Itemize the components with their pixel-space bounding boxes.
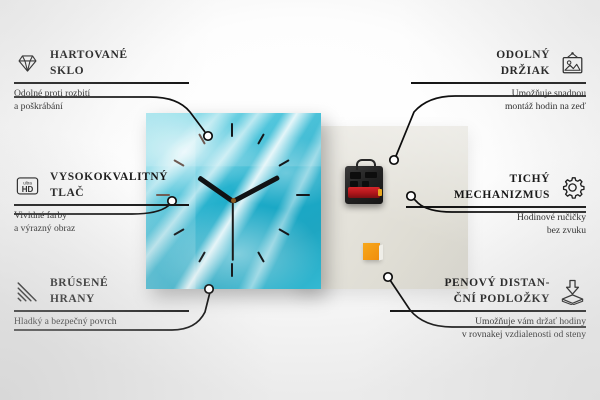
picture-hanger-icon — [559, 50, 586, 77]
callout-rule — [14, 82, 189, 84]
callout-rule — [390, 310, 586, 312]
callout-header: PENOVÝ DISTAN- ČNÍ PODLOŽKY — [376, 276, 586, 307]
callout-header: HARTOVANÉ SKLO — [14, 48, 204, 79]
clock-movement — [345, 166, 383, 204]
callout-header: ODOLNÝ DRŽIAK — [396, 48, 586, 79]
ultra-hd-icon: ultra HD — [14, 172, 41, 199]
callout-title: VYSOKOKVALITNÝ TLAČ — [50, 170, 168, 201]
hd-label: HD — [22, 185, 34, 194]
diamond-icon — [14, 50, 41, 77]
callout-rule — [411, 82, 586, 84]
callout-rule — [14, 310, 189, 312]
callout-subtitle: Hladký a bezpečný povrch — [14, 315, 204, 329]
callout-title: PENOVÝ DISTAN- ČNÍ PODLOŽKY — [444, 276, 550, 307]
foam-pad — [363, 243, 380, 260]
second-hand — [232, 201, 234, 261]
callout-foam-spacers: PENOVÝ DISTAN- ČNÍ PODLOŽKY Umožňuje vám… — [376, 276, 586, 342]
infographic-canvas: HARTOVANÉ SKLO Odolné proti rozbití a po… — [0, 0, 600, 400]
movement-slot — [350, 172, 361, 179]
callout-tempered-glass: HARTOVANÉ SKLO Odolné proti rozbití a po… — [14, 48, 204, 114]
callout-subtitle: Odolné proti rozbití a poškrábání — [14, 87, 204, 114]
clock-tick — [296, 194, 310, 196]
callout-silent-mechanism: TICHÝ MECHANIZMUS Hodinové ručičky bez z… — [391, 172, 586, 238]
callout-polished-edges: BRÚSENÉ HRANY Hladký a bezpečný povrch — [14, 276, 204, 328]
movement-slot — [365, 172, 377, 178]
callout-subtitle: Umožňuje vám držať hodiny v rovnakej vzd… — [376, 315, 586, 342]
callout-header: BRÚSENÉ HRANY — [14, 276, 204, 307]
callout-durable-hanger: ODOLNÝ DRŽIAK Umožňuje snadnou montáž ho… — [396, 48, 586, 114]
callout-header: ultra HD VYSOKOKVALITNÝ TLAČ — [14, 170, 204, 201]
callout-subtitle: Umožňuje snadnou montáž hodin na zeď — [396, 87, 586, 114]
callout-rule — [14, 204, 189, 206]
gear-icon — [559, 174, 586, 201]
callout-subtitle: Vividné farby a výrazný obraz — [14, 209, 204, 236]
clock-tick — [231, 263, 233, 277]
callout-high-quality-print: ultra HD VYSOKOKVALITNÝ TLAČ Vividné far… — [14, 170, 204, 236]
clock-hub — [231, 198, 236, 203]
callout-rule — [406, 206, 586, 208]
callout-subtitle: Hodinové ručičky bez zvuku — [391, 211, 586, 238]
callout-title: TICHÝ MECHANIZMUS — [454, 172, 550, 203]
callout-title: HARTOVANÉ SKLO — [50, 48, 128, 79]
callout-header: TICHÝ MECHANIZMUS — [391, 172, 586, 203]
clock-tick — [231, 123, 233, 137]
hanger-tab-icon — [356, 159, 376, 170]
battery — [348, 187, 380, 198]
polished-edges-icon — [14, 278, 41, 305]
press-down-pads-icon — [559, 278, 586, 305]
callout-title: BRÚSENÉ HRANY — [50, 276, 108, 307]
callout-title: ODOLNÝ DRŽIAK — [496, 48, 550, 79]
